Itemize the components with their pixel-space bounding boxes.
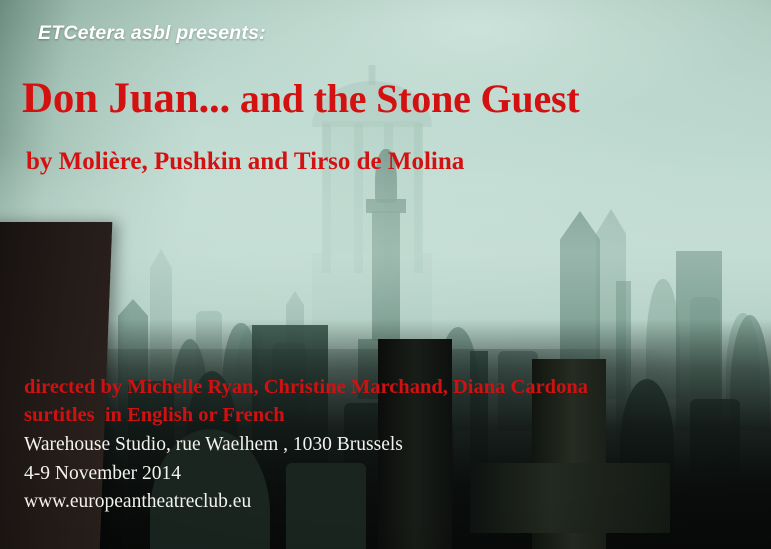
- venue-line: Warehouse Studio, rue Waelhem , 1030 Bru…: [24, 434, 403, 456]
- title-lead: Don Juan...: [22, 75, 230, 122]
- surtitles-line: surtitles in English or French: [24, 404, 285, 427]
- headstone-icon: [286, 463, 366, 549]
- presents-line: ETCetera asbl presents:: [38, 22, 266, 45]
- website-line: www.europeantheatreclub.eu: [24, 491, 251, 513]
- pillar-icon: [322, 123, 331, 273]
- cross-horizontal-bar: [470, 463, 670, 533]
- authors-line: by Molière, Pushkin and Tirso de Molina: [26, 148, 464, 176]
- dates-line: 4-9 November 2014: [24, 463, 181, 485]
- page-title: Don Juan... and the Stone Guest: [22, 74, 580, 123]
- theatre-poster: ETCetera asbl presents: Don Juan... and …: [0, 0, 771, 549]
- directors-line: directed by Michelle Ryan, Christine Mar…: [24, 376, 588, 399]
- title-rest: and the Stone Guest: [230, 76, 579, 121]
